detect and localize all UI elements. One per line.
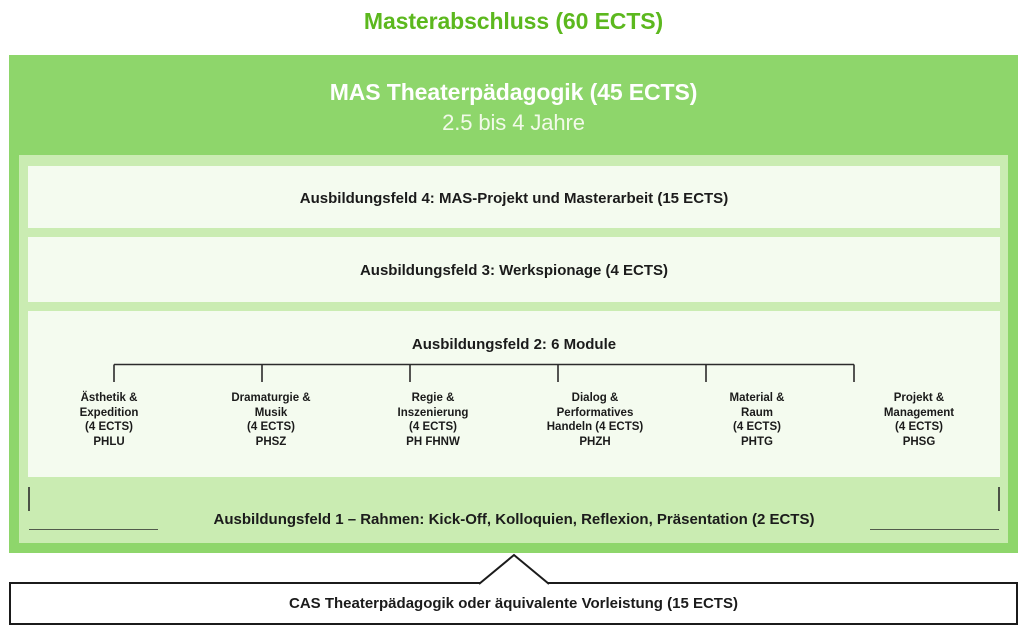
module-card-regie-inszenierung: Regie & Inszenierung (4 ECTS) PH FHNW — [352, 391, 514, 449]
module-title-line-2: Raum — [678, 406, 836, 421]
training-field-2-box: Ausbildungsfeld 2: 6 Module Ästhetik & E… — [28, 311, 1000, 477]
cas-to-mas-arrow-icon — [478, 553, 550, 585]
module-card-aesthetik-expedition: Ästhetik & Expedition (4 ECTS) PHLU — [28, 391, 190, 449]
module-ects: (4 ECTS) — [192, 420, 350, 435]
module-title-line-2: Inszenierung — [354, 406, 512, 421]
module-title-line-2: Expedition — [30, 406, 188, 421]
training-field-3-box: Ausbildungsfeld 3: Werkspionage (4 ECTS) — [28, 237, 1000, 302]
training-fields-container: Ausbildungsfeld 4: MAS-Projekt und Maste… — [19, 155, 1008, 543]
module-title-line-1: Material & — [678, 391, 836, 406]
training-field-3-label: Ausbildungsfeld 3: Werkspionage (4 ECTS) — [28, 262, 1000, 279]
module-columns: Ästhetik & Expedition (4 ECTS) PHLU Dram… — [28, 391, 1000, 449]
module-ects: (4 ECTS) — [840, 420, 998, 435]
module-institution: PHSG — [840, 435, 998, 450]
module-connector-bracket — [28, 363, 1000, 385]
module-title-line-1: Projekt & — [840, 391, 998, 406]
module-institution: PHTG — [678, 435, 836, 450]
module-institution: PHZH — [516, 435, 674, 450]
page-title: Masterabschluss (60 ECTS) — [0, 8, 1027, 35]
module-card-material-raum: Material & Raum (4 ECTS) PHTG — [676, 391, 838, 449]
mas-program-duration: 2.5 bis 4 Jahre — [9, 110, 1018, 136]
training-field-1-label: Ausbildungsfeld 1 – Rahmen: Kick-Off, Ko… — [28, 511, 1000, 529]
module-title-line-2: Management — [840, 406, 998, 421]
module-ects: Handeln (4 ECTS) — [516, 420, 674, 435]
module-card-projekt-management: Projekt & Management (4 ECTS) PHSG — [838, 391, 1000, 449]
mas-program-panel: MAS Theaterpädagogik (45 ECTS) 2.5 bis 4… — [9, 55, 1018, 553]
module-institution: PH FHNW — [354, 435, 512, 450]
module-title-line-1: Dialog & — [516, 391, 674, 406]
module-title-line-1: Dramaturgie & — [192, 391, 350, 406]
module-title-line-2: Performatives — [516, 406, 674, 421]
training-field-4-label: Ausbildungsfeld 4: MAS-Projekt und Maste… — [28, 190, 1000, 207]
module-ects: (4 ECTS) — [30, 420, 188, 435]
mas-program-heading: MAS Theaterpädagogik (45 ECTS) — [9, 79, 1018, 106]
training-field-1-text: Ausbildungsfeld 1 – Rahmen: Kick-Off, Ko… — [204, 511, 825, 528]
cas-prerequisite-box: CAS Theaterpädagogik oder äquivalente Vo… — [9, 582, 1018, 625]
cas-prerequisite-label: CAS Theaterpädagogik oder äquivalente Vo… — [11, 595, 1016, 612]
module-title-line-1: Regie & — [354, 391, 512, 406]
module-title-line-1: Ästhetik & — [30, 391, 188, 406]
training-field-4-box: Ausbildungsfeld 4: MAS-Projekt und Maste… — [28, 166, 1000, 228]
module-ects: (4 ECTS) — [354, 420, 512, 435]
module-card-dialog-performatives-handeln: Dialog & Performatives Handeln (4 ECTS) … — [514, 391, 676, 449]
module-ects: (4 ECTS) — [678, 420, 836, 435]
module-title-line-2: Musik — [192, 406, 350, 421]
module-institution: PHLU — [30, 435, 188, 450]
module-institution: PHSZ — [192, 435, 350, 450]
module-card-dramaturgie-musik: Dramaturgie & Musik (4 ECTS) PHSZ — [190, 391, 352, 449]
training-field-2-label: Ausbildungsfeld 2: 6 Module — [28, 336, 1000, 353]
training-field-1-zone: Ausbildungsfeld 1 – Rahmen: Kick-Off, Ko… — [28, 485, 1000, 537]
